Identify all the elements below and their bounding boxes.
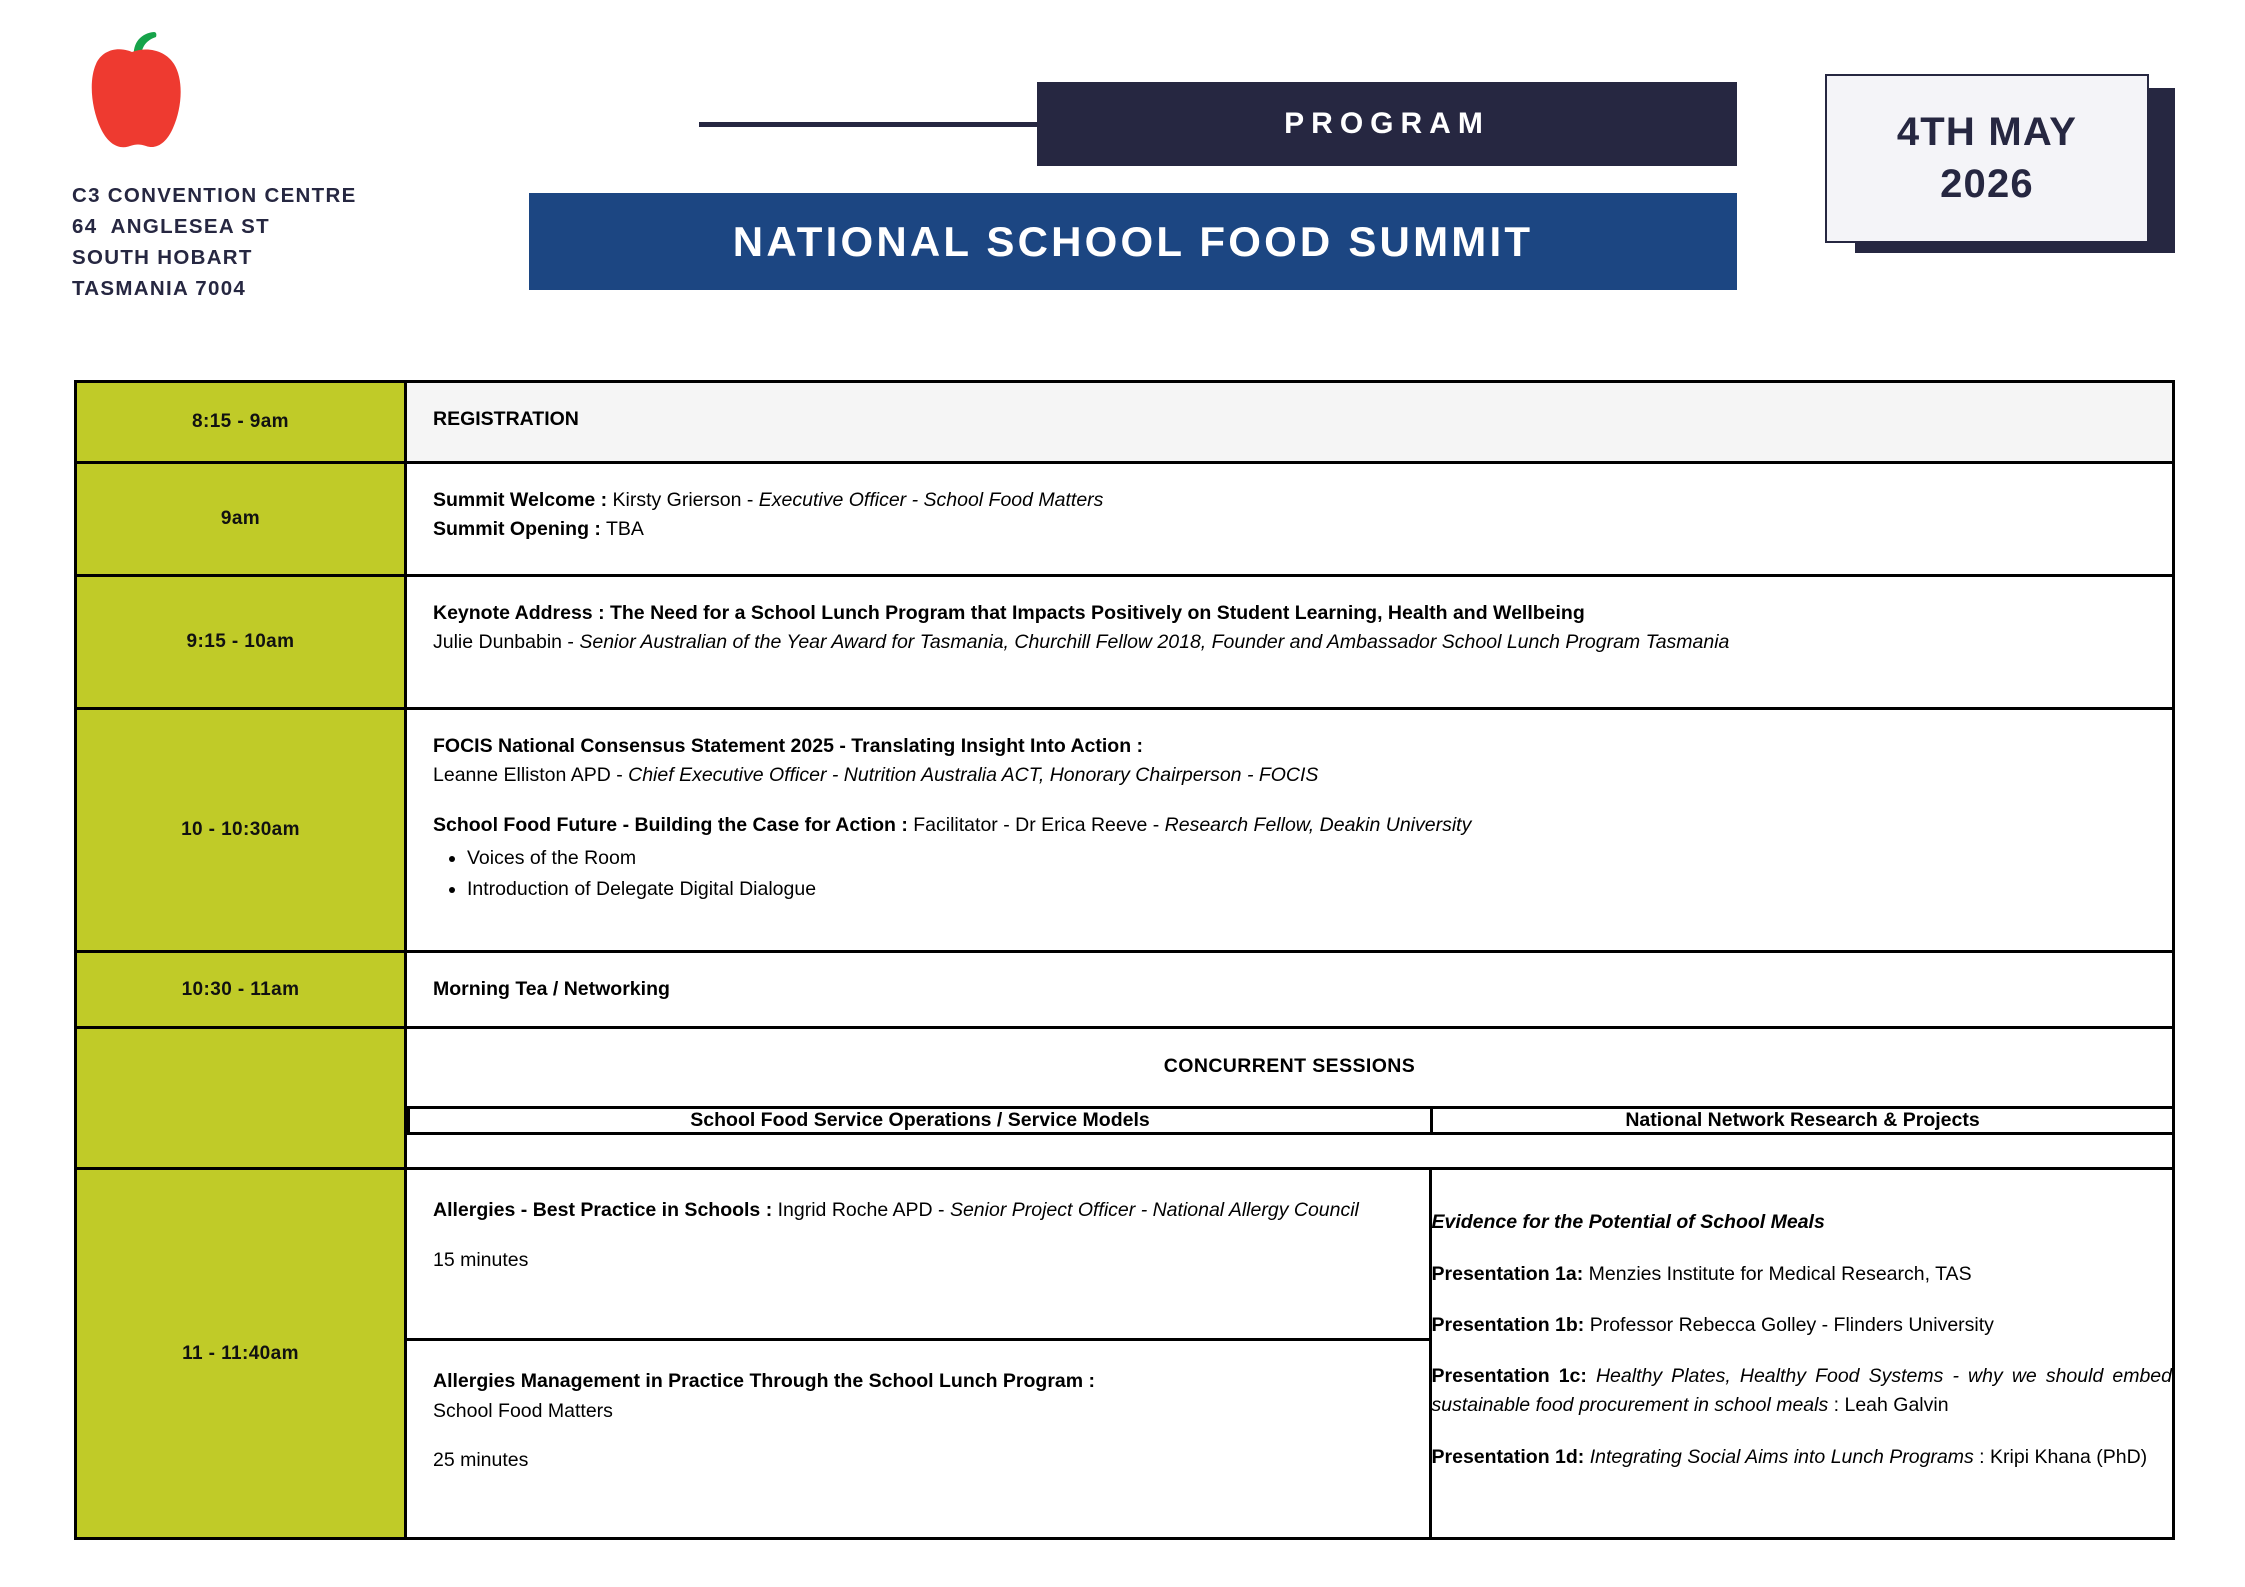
opening-label: Summit Opening : — [433, 518, 601, 540]
table-row: Allergies - Best Practice in Schools : I… — [407, 1170, 2172, 1537]
event-date-month-day: 4TH MAY — [1897, 107, 2077, 158]
evidence-heading: Evidence for the Potential of School Mea… — [1432, 1208, 2173, 1237]
presentation-1d: Presentation 1d: Integrating Social Aims… — [1432, 1443, 2173, 1472]
brand-block: C3 CONVENTION CENTRE 64 ANGLESEA ST SOUT… — [72, 28, 402, 305]
presentation-1c-detail: : Leah Galvin — [1828, 1394, 1948, 1416]
school-food-future-line: School Food Future - Building the Case f… — [433, 811, 2146, 840]
morning-tea-label: Morning Tea / Networking — [433, 975, 2146, 1004]
keynote-title: Keynote Address : The Need for a School … — [433, 599, 2146, 628]
event-date-year: 2026 — [1940, 159, 2034, 210]
session-cell-welcome: Summit Welcome : Kirsty Grierson - Execu… — [406, 463, 2174, 576]
program-label: PROGRAM — [1284, 107, 1490, 141]
table-row: School Food Service Operations / Service… — [409, 1108, 2174, 1134]
welcome-label: Summit Welcome : — [433, 489, 607, 511]
allergies-speaker: Ingrid Roche APD - — [772, 1199, 950, 1221]
keynote-speaker: Julie Dunbabin - — [433, 631, 579, 653]
focis-speaker-line: Leanne Elliston APD - Chief Executive Of… — [433, 761, 2146, 790]
spacer — [433, 1426, 1403, 1446]
page-header: C3 CONVENTION CENTRE 64 ANGLESEA ST SOUT… — [0, 0, 2245, 330]
time-cell-registration: 8:15 - 9am — [76, 382, 406, 463]
header-rule — [699, 122, 1039, 127]
welcome-speaker: Kirsty Grierson - — [607, 489, 759, 511]
stream-header-left: School Food Service Operations / Service… — [409, 1108, 1432, 1134]
program-schedule-table: 8:15 - 9am REGISTRATION 9am Summit Welco… — [74, 380, 2175, 1540]
presentation-1b: Presentation 1b: Professor Rebecca Golle… — [1432, 1311, 2173, 1340]
session-allergies-best-practice: Allergies - Best Practice in Schools : I… — [407, 1170, 1429, 1341]
presentation-1c: Presentation 1c: Healthy Plates, Healthy… — [1432, 1362, 2173, 1421]
presentation-1a-detail: Menzies Institute for Medical Research, … — [1583, 1263, 1971, 1285]
stream-header-right: National Network Research & Projects — [1432, 1108, 2174, 1134]
allergies-title-line: Allergies - Best Practice in Schools : I… — [433, 1196, 1403, 1225]
table-row: 9:15 - 10am Keynote Address : The Need f… — [76, 576, 2174, 709]
school-food-future-heading: School Food Future - Building the Case f… — [433, 814, 908, 836]
event-date-card: 4TH MAY 2026 — [1825, 74, 2149, 243]
venue-line-4: TASMANIA 7004 — [72, 273, 402, 304]
allergies-speaker-role: Senior Project Officer - National Allerg… — [950, 1199, 1359, 1221]
focis-speaker-role: Chief Executive Officer - Nutrition Aust… — [628, 764, 1318, 786]
time-cell-concurrent-sessions: 11 - 11:40am — [76, 1169, 406, 1539]
registration-label: REGISTRATION — [433, 405, 2146, 434]
presentation-1a-label: Presentation 1a: — [1432, 1263, 1584, 1285]
concurrent-header-cell: CONCURRENT SESSIONS School Food Service … — [406, 1028, 2174, 1169]
presentation-1d-detail: : Kripi Khana (PhD) — [1974, 1446, 2147, 1468]
presentation-1c-label: Presentation 1c: — [1432, 1365, 1587, 1387]
presentation-1d-title: Integrating Social Aims into Lunch Progr… — [1584, 1446, 1973, 1468]
opening-value: TBA — [601, 518, 644, 540]
venue-line-1: C3 CONVENTION CENTRE — [72, 180, 402, 211]
session-cell-registration: REGISTRATION — [406, 382, 2174, 463]
allergies-mgmt-title: Allergies Management in Practice Through… — [433, 1367, 1403, 1396]
table-row: 10 - 10:30am FOCIS National Consensus St… — [76, 709, 2174, 952]
red-apple-icon — [72, 28, 192, 158]
stream-left-cell: Allergies - Best Practice in Schools : I… — [407, 1170, 1430, 1537]
list-item: Voices of the Room — [467, 844, 2146, 873]
welcome-speaker-role: Executive Officer - School Food Matters — [759, 489, 1104, 511]
presentation-1b-label: Presentation 1b: — [1432, 1314, 1585, 1336]
time-cell-morning-tea: 10:30 - 11am — [76, 952, 406, 1028]
presentation-1b-detail: Professor Rebecca Golley - Flinders Univ… — [1584, 1314, 1994, 1336]
allergies-title: Allergies - Best Practice in Schools : — [433, 1199, 772, 1221]
focis-heading: FOCIS National Consensus Statement 2025 … — [433, 732, 2146, 761]
presentation-1a: Presentation 1a: Menzies Institute for M… — [1432, 1260, 2173, 1289]
concurrent-content-cell: Allergies - Best Practice in Schools : I… — [406, 1169, 2174, 1539]
welcome-line: Summit Welcome : Kirsty Grierson - Execu… — [433, 486, 2146, 515]
table-row: 8:15 - 9am REGISTRATION — [76, 382, 2174, 463]
spacer — [433, 791, 2146, 811]
session-cell-focis: FOCIS National Consensus Statement 2025 … — [406, 709, 2174, 952]
time-cell-keynote: 9:15 - 10am — [76, 576, 406, 709]
summit-title: NATIONAL SCHOOL FOOD SUMMIT — [733, 218, 1533, 266]
venue-address: C3 CONVENTION CENTRE 64 ANGLESEA ST SOUT… — [72, 180, 402, 305]
allergies-mgmt-duration: 25 minutes — [433, 1446, 1403, 1475]
concurrent-content-table: Allergies - Best Practice in Schools : I… — [407, 1170, 2172, 1537]
time-cell-concurrent-header — [76, 1028, 406, 1169]
table-row: 10:30 - 11am Morning Tea / Networking — [76, 952, 2174, 1028]
concurrent-streams-table: School Food Service Operations / Service… — [407, 1106, 2175, 1135]
concurrent-sessions-banner: CONCURRENT SESSIONS — [407, 1029, 2172, 1106]
allergies-duration: 15 minutes — [433, 1246, 1403, 1275]
facilitator-role: Research Fellow, Deakin University — [1165, 814, 1472, 836]
session-cell-keynote: Keynote Address : The Need for a School … — [406, 576, 2174, 709]
focis-bullet-list: Voices of the Room Introduction of Deleg… — [433, 844, 2146, 905]
venue-line-3: SOUTH HOBART — [72, 242, 402, 273]
stream-right-cell: Evidence for the Potential of School Mea… — [1430, 1170, 2172, 1537]
time-cell-welcome: 9am — [76, 463, 406, 576]
table-row: 9am Summit Welcome : Kirsty Grierson - E… — [76, 463, 2174, 576]
list-item: Introduction of Delegate Digital Dialogu… — [467, 875, 2146, 904]
table-row: 11 - 11:40am Allergies - Best Practice i… — [76, 1169, 2174, 1539]
session-cell-morning-tea: Morning Tea / Networking — [406, 952, 2174, 1028]
facilitator-name: Facilitator - Dr Erica Reeve - — [908, 814, 1165, 836]
presentation-1d-label: Presentation 1d: — [1432, 1446, 1585, 1468]
table-row: CONCURRENT SESSIONS School Food Service … — [76, 1028, 2174, 1169]
keynote-speaker-credentials: Senior Australian of the Year Award for … — [579, 631, 1729, 653]
session-allergies-management: Allergies Management in Practice Through… — [407, 1341, 1429, 1537]
allergies-mgmt-org: School Food Matters — [433, 1397, 1403, 1426]
venue-line-2: 64 ANGLESEA ST — [72, 211, 402, 242]
summit-title-banner: NATIONAL SCHOOL FOOD SUMMIT — [529, 193, 1737, 290]
keynote-speaker-line: Julie Dunbabin - Senior Australian of th… — [433, 628, 2146, 657]
spacer — [433, 1226, 1403, 1246]
program-label-box: PROGRAM — [1037, 82, 1737, 166]
opening-line: Summit Opening : TBA — [433, 515, 2146, 544]
focis-speaker: Leanne Elliston APD - — [433, 764, 628, 786]
time-cell-focis: 10 - 10:30am — [76, 709, 406, 952]
